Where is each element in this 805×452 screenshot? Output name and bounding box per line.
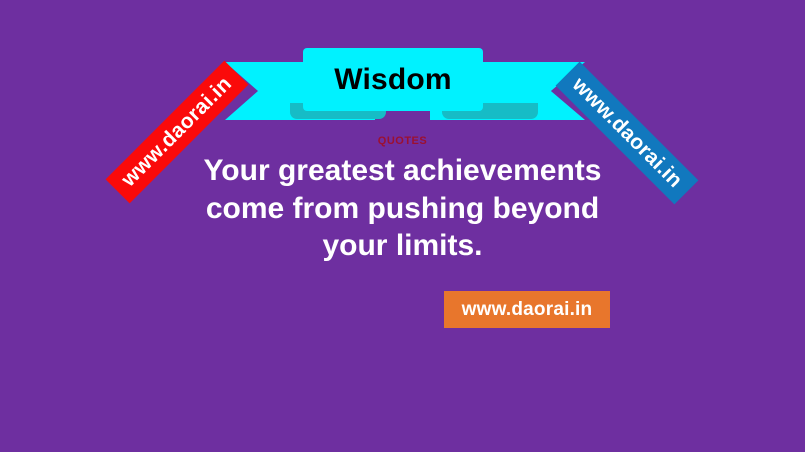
quote-block: QUOTES Your greatest achievementscome fr… bbox=[0, 136, 805, 265]
url-badge[interactable]: www.daorai.in bbox=[444, 291, 610, 328]
banner-title: Wisdom bbox=[334, 65, 452, 95]
quote-poster: Wisdom www.daorai.in www.daorai.in QUOTE… bbox=[0, 0, 805, 452]
ribbon-fold-right bbox=[442, 103, 538, 119]
ribbon-fold-left bbox=[290, 103, 386, 119]
quote-kicker: QUOTES bbox=[0, 136, 805, 147]
quote-text: Your greatest achievementscome from push… bbox=[0, 152, 805, 265]
ribbon-plaque: Wisdom bbox=[303, 48, 483, 111]
url-badge-label: www.daorai.in bbox=[462, 300, 593, 319]
ribbon-wing-left bbox=[225, 62, 375, 120]
